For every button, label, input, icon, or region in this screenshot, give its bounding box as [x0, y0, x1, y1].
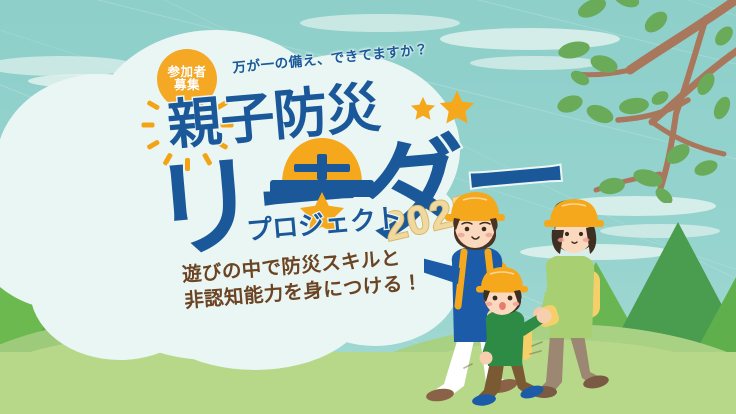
- poster-root: 参加者 募集 万が一の備え、できてますか？ 親子防災 リーダー 2025 プロジ…: [0, 0, 736, 414]
- tree-branch-illustration: [556, 0, 736, 203]
- family-hiking-illustration: [424, 186, 644, 408]
- figure-mother: [531, 199, 610, 398]
- safety-helmet-icon: [270, 138, 374, 197]
